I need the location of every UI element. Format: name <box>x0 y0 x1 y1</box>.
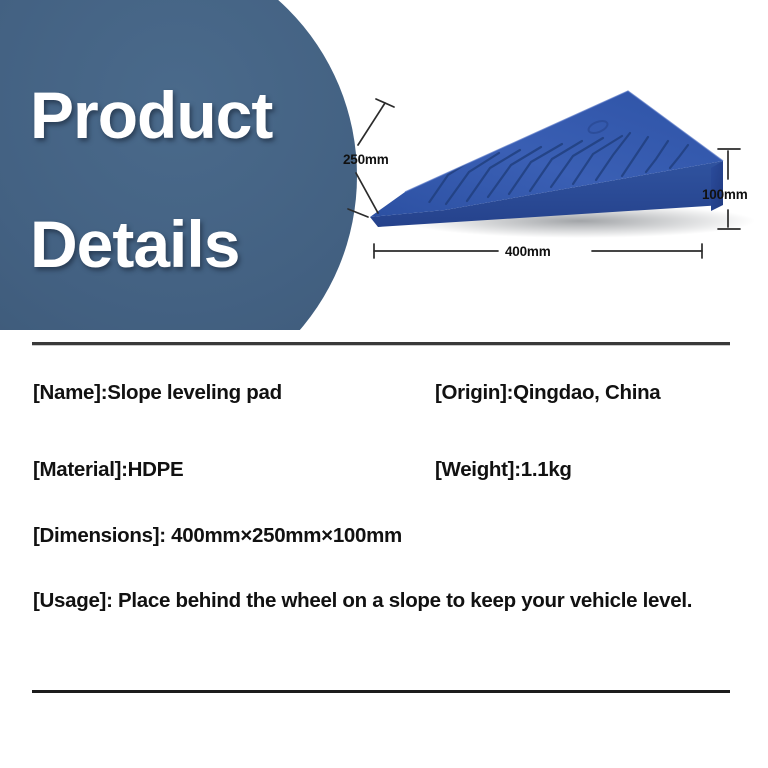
dimension-label-height: 250mm <box>343 152 389 167</box>
product-spec-sheet: [Name]:Slope leveling pad [Origin]:Qingd… <box>0 330 768 768</box>
divider-top <box>32 342 730 346</box>
page-title-line-1: Product <box>30 83 360 148</box>
spec-weight: [Weight]:1.1kg <box>435 457 572 483</box>
spec-material: [Material]:HDPE <box>33 457 183 483</box>
dimension-label-thickness: 100mm <box>702 187 748 202</box>
spec-name: [Name]:Slope leveling pad <box>33 380 282 406</box>
dimension-label-length: 400mm <box>505 244 551 259</box>
hero-banner: Product Details <box>0 0 768 330</box>
product-image: 250mm 100mm 400mm <box>330 55 768 280</box>
spec-origin: [Origin]:Qingdao, China <box>435 380 660 406</box>
spec-dimensions: [Dimensions]: 400mm×250mm×100mm <box>33 523 402 549</box>
pad-end-face <box>711 161 723 211</box>
page-title: Product Details <box>30 18 360 330</box>
page-title-line-2: Details <box>30 212 360 277</box>
divider-bottom <box>32 690 730 693</box>
spec-usage: [Usage]: Place behind the wheel on a slo… <box>33 588 698 614</box>
